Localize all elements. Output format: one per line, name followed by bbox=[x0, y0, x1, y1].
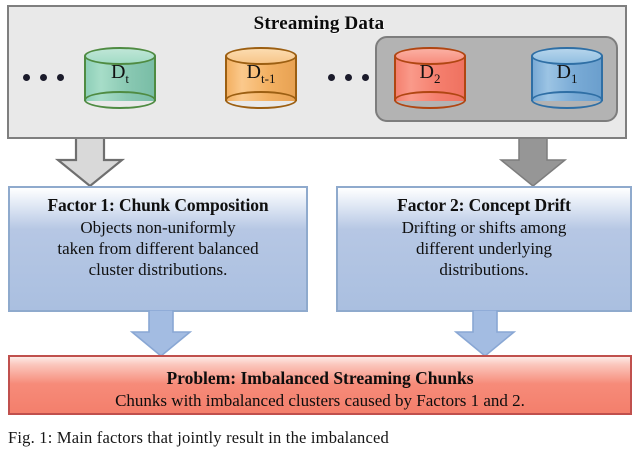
cylinder-label: D1 bbox=[531, 61, 603, 87]
cylinder-dt-1: Dt-1 bbox=[225, 47, 297, 109]
cylinder-label: D2 bbox=[394, 61, 466, 87]
cylinder-dt: Dt bbox=[84, 47, 156, 109]
figure-diagram: Streaming Data Dt Dt-1 D2 D1 Factor 1: C… bbox=[0, 0, 640, 451]
factor-2-heading: Factor 2: Concept Drift bbox=[338, 194, 630, 217]
problem-box: Problem: Imbalanced Streaming Chunks Chu… bbox=[8, 355, 632, 415]
factor-1-line-1: Objects non-uniformly bbox=[10, 217, 306, 238]
factor-1-line-3: cluster distributions. bbox=[10, 259, 306, 280]
cylinder-label: Dt bbox=[84, 61, 156, 87]
arrow-blue-right bbox=[452, 310, 518, 358]
ellipsis-middle bbox=[328, 74, 369, 81]
streaming-data-title: Streaming Data bbox=[9, 13, 629, 35]
factor-2-line-2: different underlying bbox=[338, 238, 630, 259]
cylinder-bottom bbox=[394, 91, 466, 109]
factor-2-line-1: Drifting or shifts among bbox=[338, 217, 630, 238]
cylinder-bottom bbox=[84, 91, 156, 109]
arrow-grey-left bbox=[54, 136, 126, 188]
factor-2-box: Factor 2: Concept Drift Drifting or shif… bbox=[336, 186, 632, 312]
problem-heading: Problem: Imbalanced Streaming Chunks bbox=[10, 357, 630, 390]
problem-body: Chunks with imbalanced clusters caused b… bbox=[10, 390, 630, 412]
cylinder-d2: D2 bbox=[394, 47, 466, 109]
factor-1-heading: Factor 1: Chunk Composition bbox=[10, 194, 306, 217]
factor-2-line-3: distributions. bbox=[338, 259, 630, 280]
cylinder-label: Dt-1 bbox=[225, 61, 297, 87]
cylinder-d1: D1 bbox=[531, 47, 603, 109]
cylinder-bottom bbox=[531, 91, 603, 109]
cylinder-bottom bbox=[225, 91, 297, 109]
factor-1-line-2: taken from different balanced bbox=[10, 238, 306, 259]
factor-1-box: Factor 1: Chunk Composition Objects non-… bbox=[8, 186, 308, 312]
ellipsis-left bbox=[23, 74, 64, 81]
figure-caption: Fig. 1: Main factors that jointly result… bbox=[8, 428, 632, 448]
arrow-blue-left bbox=[128, 310, 194, 358]
